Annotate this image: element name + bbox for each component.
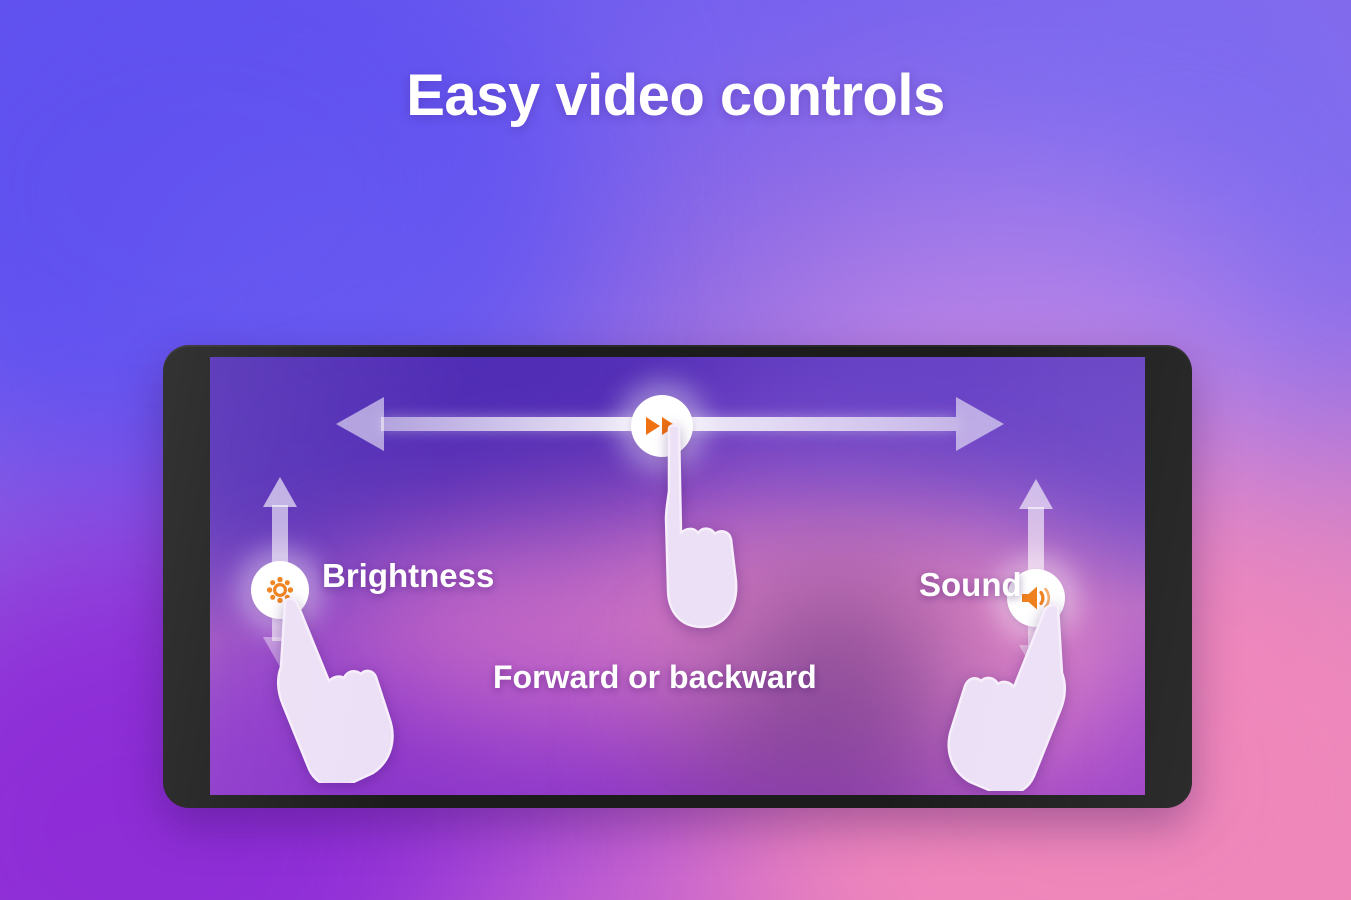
pointing-hand-icon [932,601,1072,791]
seek-arrow-left-head-icon [336,397,384,451]
brightness-label: Brightness [322,557,494,595]
hand-left [273,593,403,783]
arrow-up-head-icon [1019,479,1053,509]
sound-label: Sound [919,566,1022,604]
arrow-up-head-icon [263,477,297,507]
page-title: Easy video controls [0,62,1351,129]
seek-arrow-right-head-icon [956,397,1004,451]
hand-right [932,601,1072,791]
pointing-hand-icon [273,593,403,783]
tablet-device-frame: Brightness Sound Forward or backward [163,345,1192,808]
pointing-hand-icon [644,423,762,633]
tablet-screen: Brightness Sound Forward or backward [210,357,1145,795]
hand-center [644,423,762,633]
seek-label: Forward or backward [493,659,817,696]
